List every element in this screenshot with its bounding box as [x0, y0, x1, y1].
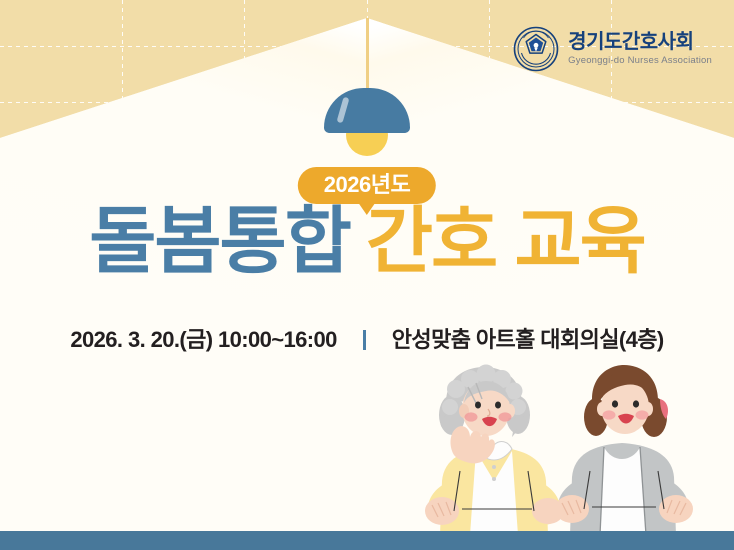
page-title: 돌봄통합간호 교육: [0, 205, 734, 278]
year-badge-label: 2026년도: [298, 167, 436, 204]
title-part-orange: 간호 교육: [366, 201, 645, 282]
title-part-blue: 돌봄통합: [89, 201, 350, 282]
organization-logo: 경기도간호사회 Gyeonggi-do Nurses Association: [513, 26, 712, 72]
floor-bar: [0, 531, 734, 550]
lamp-cord: [366, 18, 369, 90]
event-poster: 경기도간호사회 Gyeonggi-do Nurses Association 2…: [0, 0, 734, 550]
event-info-line: 2026. 3. 20.(금) 10:00~16:00안성맞춤 아트홀 대회의실…: [0, 322, 734, 354]
event-venue: 안성맞춤 아트홀 대회의실(4층): [392, 327, 664, 352]
nurses-association-emblem-icon: [513, 26, 559, 72]
organization-name-ko: 경기도간호사회: [568, 32, 712, 52]
event-datetime: 2026. 3. 20.(금) 10:00~16:00: [70, 327, 336, 352]
organization-name-en: Gyeonggi-do Nurses Association: [568, 56, 712, 66]
organization-name-block: 경기도간호사회 Gyeonggi-do Nurses Association: [568, 32, 712, 66]
info-separator: [363, 330, 366, 350]
two-women-illustration: [424, 359, 734, 531]
pendant-lamp-icon: [307, 18, 427, 90]
year-badge: 2026년도: [298, 167, 436, 204]
lamp-highlight: [337, 97, 350, 124]
